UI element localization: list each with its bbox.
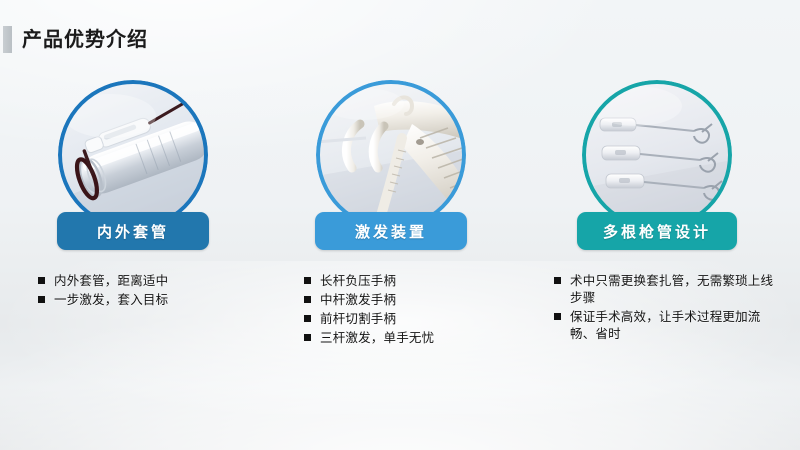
bullet-square-icon xyxy=(38,296,45,303)
card-label-3[interactable]: 多根枪管设计 xyxy=(577,212,737,250)
card-image-wrap-2 xyxy=(316,80,466,230)
circle-frame-2 xyxy=(316,80,466,230)
list-item: 前杆切割手柄 xyxy=(304,310,514,327)
card-image-wrap-1 xyxy=(58,80,208,230)
card-bullets-1: 内外套管，距离适中 一步激发，套入目标 xyxy=(38,272,238,308)
bullet-square-icon xyxy=(304,277,311,284)
card-bullets-3: 术中只需更换套扎管，无需繁琐上线步骤 保证手术高效，让手术过程更加流畅、省时 xyxy=(554,272,780,342)
card-label-text-1: 内外套管 xyxy=(97,221,169,242)
list-item: 内外套管，距离适中 xyxy=(38,272,238,289)
cannula-device-photo xyxy=(58,80,208,230)
circle-frame-3 xyxy=(582,80,732,230)
card-label-2[interactable]: 激发装置 xyxy=(315,212,467,250)
card-firing-device[interactable]: 激发装置 长杆负压手柄 中杆激发手柄 前杆切割手柄 三杆激发，单手无忧 xyxy=(258,72,524,348)
bullet-square-icon xyxy=(304,334,311,341)
title-accent-bar xyxy=(3,26,12,53)
bullet-text: 前杆切割手柄 xyxy=(320,311,396,326)
bullet-square-icon xyxy=(304,315,311,322)
circle-frame-1 xyxy=(58,80,208,230)
list-item: 保证手术高效，让手术过程更加流畅、省时 xyxy=(554,308,780,342)
bullet-square-icon xyxy=(304,296,311,303)
list-item: 长杆负压手柄 xyxy=(304,272,514,289)
advantage-cards: 内外套管 内外套管，距离适中 一步激发，套入目标 xyxy=(0,72,800,372)
bullet-text: 保证手术高效，让手术过程更加流畅、省时 xyxy=(570,309,761,341)
bullet-text: 术中只需更换套扎管，无需繁琐上线步骤 xyxy=(570,273,773,305)
bullet-text: 内外套管，距离适中 xyxy=(54,273,168,288)
card-label-text-2: 激发装置 xyxy=(355,221,427,242)
card-multi-barrel-design[interactable]: 多根枪管设计 术中只需更换套扎管，无需繁琐上线步骤 保证手术高效，让手术过程更加… xyxy=(524,72,790,344)
card-inner-outer-cannula[interactable]: 内外套管 内外套管，距离适中 一步激发，套入目标 xyxy=(0,72,266,310)
multi-barrel-rods-photo xyxy=(582,80,732,230)
bullet-square-icon xyxy=(38,277,45,284)
card-label-text-3: 多根枪管设计 xyxy=(603,221,711,242)
bullet-text: 长杆负压手柄 xyxy=(320,273,396,288)
card-image-wrap-3 xyxy=(582,80,732,230)
bullet-square-icon xyxy=(554,313,561,320)
slide-header: 产品优势介绍 xyxy=(0,24,148,54)
trigger-handle-photo xyxy=(316,80,466,230)
bullet-square-icon xyxy=(554,277,561,284)
list-item: 中杆激发手柄 xyxy=(304,291,514,308)
page-title: 产品优势介绍 xyxy=(22,29,148,49)
card-bullets-2: 长杆负压手柄 中杆激发手柄 前杆切割手柄 三杆激发，单手无忧 xyxy=(304,272,514,346)
bullet-text: 三杆激发，单手无忧 xyxy=(320,330,434,345)
slide-canvas: 产品优势介绍 xyxy=(0,0,800,450)
list-item: 三杆激发，单手无忧 xyxy=(304,329,514,346)
list-item: 术中只需更换套扎管，无需繁琐上线步骤 xyxy=(554,272,780,306)
bullet-text: 一步激发，套入目标 xyxy=(54,292,168,307)
card-label-1[interactable]: 内外套管 xyxy=(57,212,209,250)
list-item: 一步激发，套入目标 xyxy=(38,291,238,308)
bullet-text: 中杆激发手柄 xyxy=(320,292,396,307)
